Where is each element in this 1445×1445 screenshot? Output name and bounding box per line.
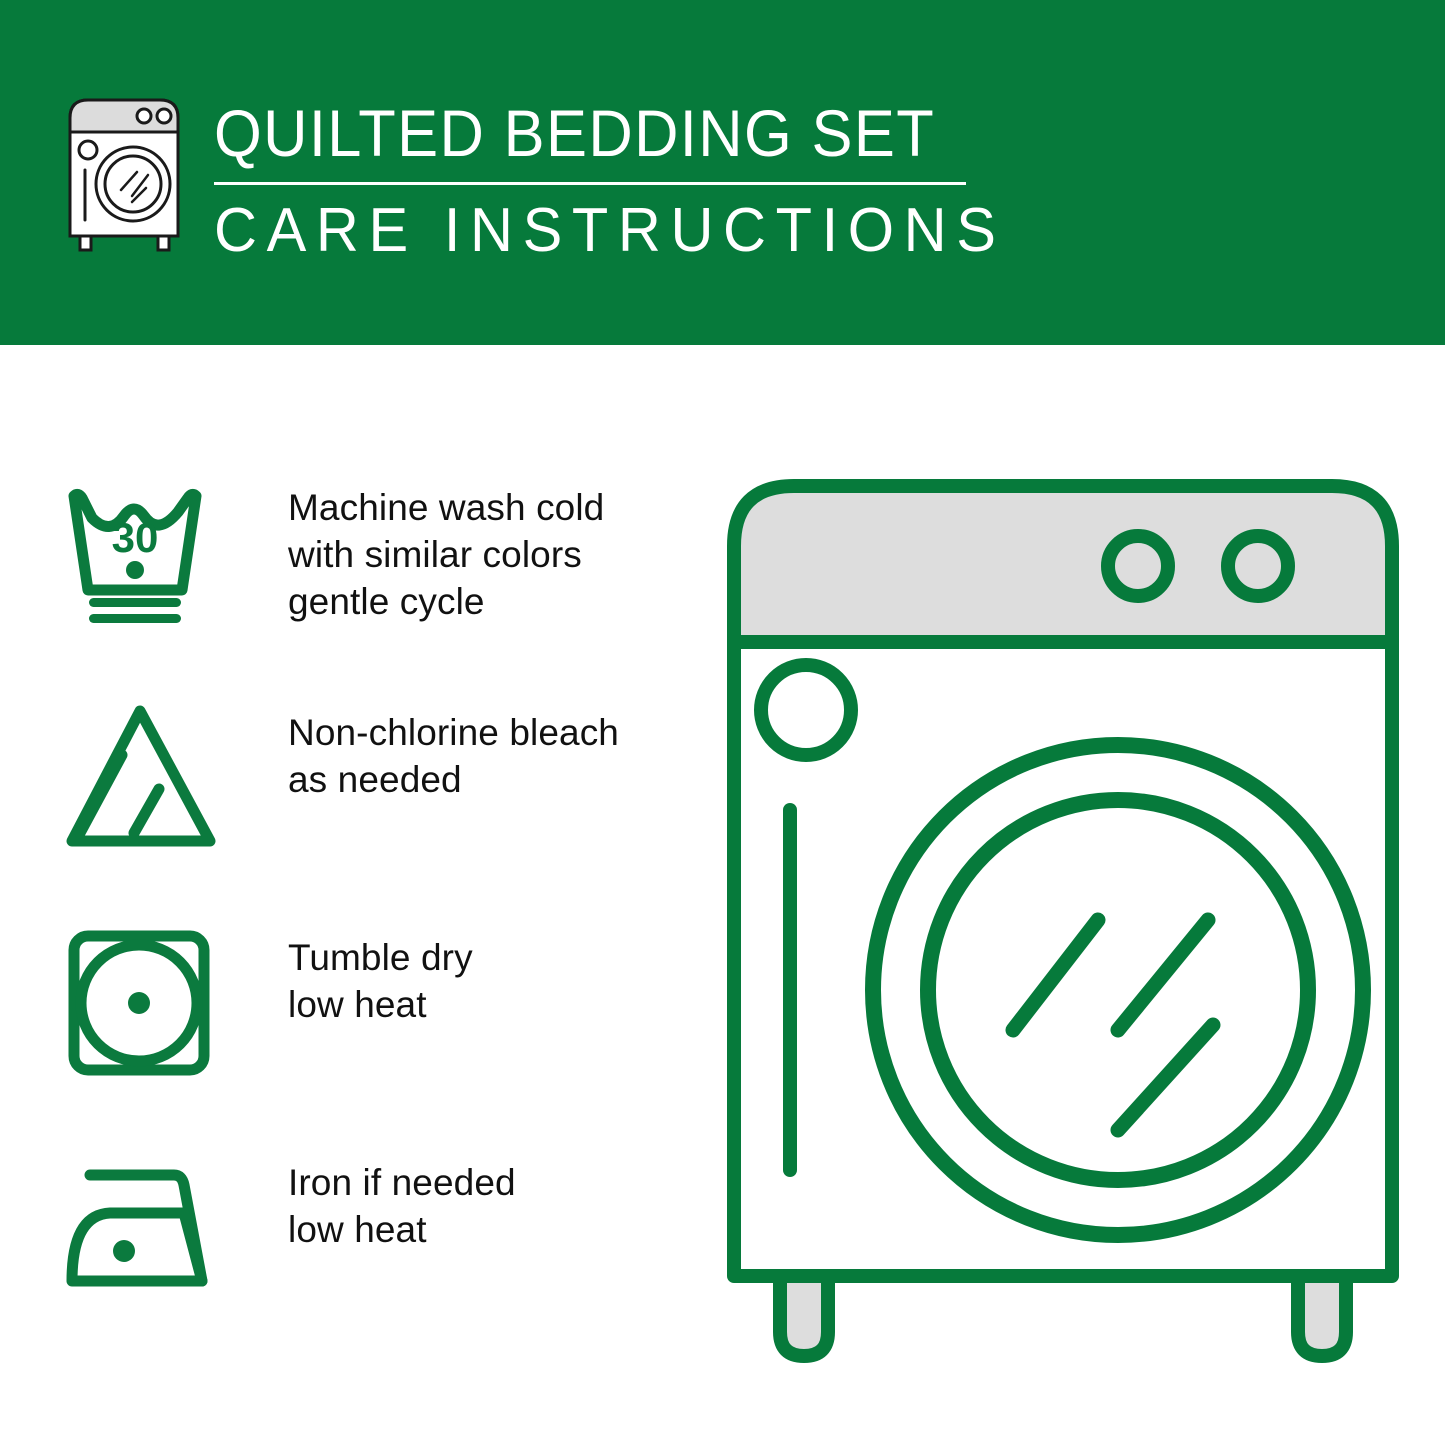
care-row-bleach: Non-chlorine bleach as needed (62, 695, 682, 920)
care-label-machine-wash: Machine wash cold with similar colors ge… (232, 470, 604, 625)
title-divider (214, 182, 966, 185)
care-instructions-page: QUILTED BEDDING SET CARE INSTRUCTIONS 30 (0, 0, 1445, 1445)
header-content: QUILTED BEDDING SET CARE INSTRUCTIONS (60, 92, 1038, 264)
iron-icon (62, 1145, 232, 1303)
leg-left (780, 1276, 828, 1356)
care-row-machine-wash: 30 Machine wash cold with similar colors… (62, 470, 682, 695)
front-load-washing-machine-illustration (718, 470, 1408, 1370)
care-row-tumble-dry: Tumble dry low heat (62, 920, 682, 1145)
wash-temperature-value: 30 (112, 514, 159, 561)
leg-right (1298, 1276, 1346, 1356)
care-label-tumble-dry: Tumble dry low heat (232, 920, 473, 1028)
page-subtitle: CARE INSTRUCTIONS (214, 198, 1006, 264)
care-row-iron: Iron if needed low heat (62, 1145, 682, 1370)
tumble-dry-icon (62, 920, 232, 1078)
bleach-triangle-icon (62, 695, 232, 853)
care-label-iron: Iron if needed low heat (232, 1145, 516, 1253)
wash-tub-30-icon: 30 (62, 470, 232, 628)
page-title: QUILTED BEDDING SET (214, 98, 981, 168)
care-label-bleach: Non-chlorine bleach as needed (232, 695, 619, 803)
header-title-block: QUILTED BEDDING SET CARE INSTRUCTIONS (214, 92, 1038, 264)
care-instruction-list: 30 Machine wash cold with similar colors… (62, 470, 682, 1370)
page-header: QUILTED BEDDING SET CARE INSTRUCTIONS (0, 0, 1445, 345)
washing-machine-icon (60, 92, 188, 252)
